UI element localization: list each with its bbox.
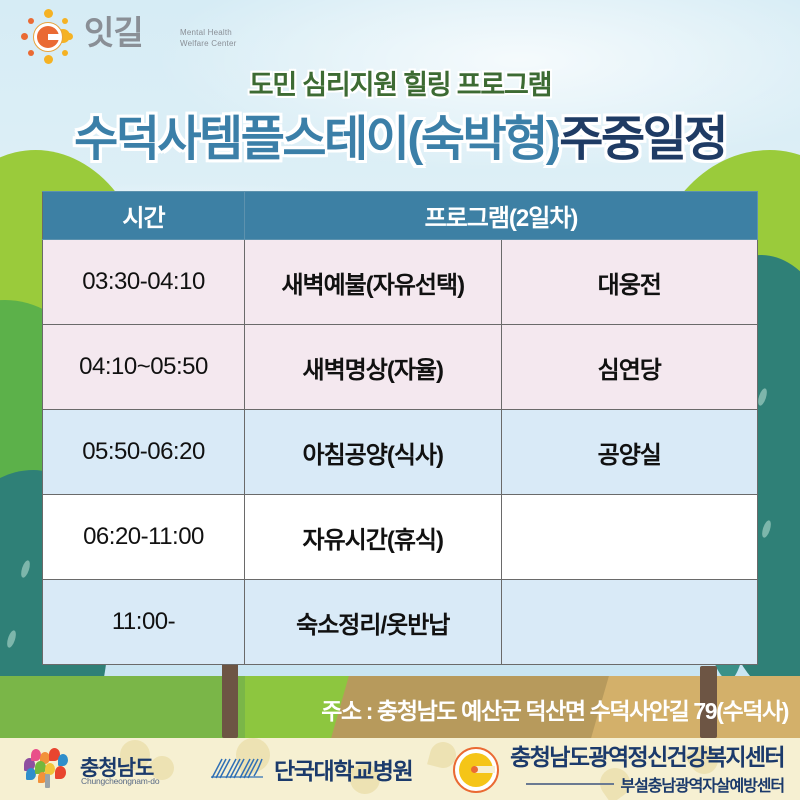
cell-program: 숙소정리/옷반납	[245, 580, 502, 665]
column-header-program: 프로그램(2일차)	[245, 192, 758, 240]
province-wordmark: 충청남도 Chungcheongnam-do	[80, 749, 198, 789]
schedule-body: 03:30-04:10 새벽예불(자유선택) 대웅전 04:10~05:50 새…	[43, 240, 758, 665]
cell-program: 자유시간(휴식)	[245, 495, 502, 580]
schedule-table: 시간 프로그램(2일차) 03:30-04:10 새벽예불(자유선택) 대웅전 …	[42, 191, 758, 665]
cell-place	[501, 495, 758, 580]
brand-en-line1: Mental Health	[180, 28, 290, 39]
center-sub-row: 부설충남광역자살예방센터	[510, 772, 784, 796]
center-wordmark: 충청남도광역정신건강복지센터 부설충남광역자살예방센터	[510, 744, 784, 796]
cell-time: 06:20-11:00	[43, 495, 245, 580]
divider-line	[526, 783, 614, 785]
chungcheongnam-tree-icon	[24, 748, 70, 790]
schedule-head: 시간 프로그램(2일차)	[43, 192, 758, 240]
page-title: 수덕사템플스테이(숙박형)주중일정	[0, 112, 800, 169]
cell-place: 대웅전	[501, 240, 758, 325]
center-name-sub: 부설충남광역자살예방센터	[621, 772, 784, 796]
cell-place: 공양실	[501, 410, 758, 495]
cell-program: 새벽예불(자유선택)	[245, 240, 502, 325]
brand-wordmark: 잇길 Mental Health Welfare Center	[84, 12, 172, 62]
table-row: 04:10~05:50 새벽명상(자율) 심연당	[43, 325, 758, 410]
column-header-time: 시간	[43, 192, 245, 240]
page-title-part1: 수덕사템플스테이(숙박형)	[74, 113, 559, 166]
poster-subtitle: 도민 심리지원 힐링 프로그램	[0, 63, 800, 102]
brand-logo: 잇길 Mental Health Welfare Center	[20, 8, 250, 66]
cell-time: 05:50-06:20	[43, 410, 245, 495]
hospital-name: 단국대학교병원	[274, 752, 412, 786]
province-name-en: Chungcheongnam-do	[81, 776, 159, 786]
sun-circle-icon	[20, 9, 76, 65]
table-row: 06:20-11:00 자유시간(휴식)	[43, 495, 758, 580]
dku-logo-icon	[210, 756, 264, 782]
cell-time: 03:30-04:10	[43, 240, 245, 325]
footer-left-logos: 충청남도 Chungcheongnam-do 단국대학교병원	[24, 748, 412, 790]
cell-time: 04:10~05:50	[43, 325, 245, 410]
brand-name-ko: 잇길	[84, 16, 143, 49]
cell-program: 새벽명상(자율)	[245, 325, 502, 410]
table-row: 05:50-06:20 아침공양(식사) 공양실	[43, 410, 758, 495]
cell-program: 아침공양(식사)	[245, 410, 502, 495]
poster-canvas: 잇길 Mental Health Welfare Center 도민 심리지원 …	[0, 0, 800, 800]
cell-time: 11:00-	[43, 580, 245, 665]
cell-place	[501, 580, 758, 665]
center-circle-icon	[453, 747, 499, 793]
page-title-part2: 주중일정	[559, 113, 726, 166]
cell-place: 심연당	[501, 325, 758, 410]
table-row: 03:30-04:10 새벽예불(자유선택) 대웅전	[43, 240, 758, 325]
table-row: 11:00- 숙소정리/옷반납	[43, 580, 758, 665]
brand-en-line2: Welfare Center	[180, 39, 290, 50]
footer-bar: 충청남도 Chungcheongnam-do 단국대학교병원	[0, 738, 800, 800]
footer-right-logo: 충청남도광역정신건강복지센터 부설충남광역자살예방센터	[453, 744, 784, 796]
brand-name-en: Mental Health Welfare Center	[180, 28, 290, 50]
address-line: 주소 : 충청남도 예산군 덕산면 수덕사안길 79(수덕사)	[0, 692, 800, 726]
table-header-row: 시간 프로그램(2일차)	[43, 192, 758, 240]
center-name-main: 충청남도광역정신건강복지센터	[510, 744, 784, 770]
